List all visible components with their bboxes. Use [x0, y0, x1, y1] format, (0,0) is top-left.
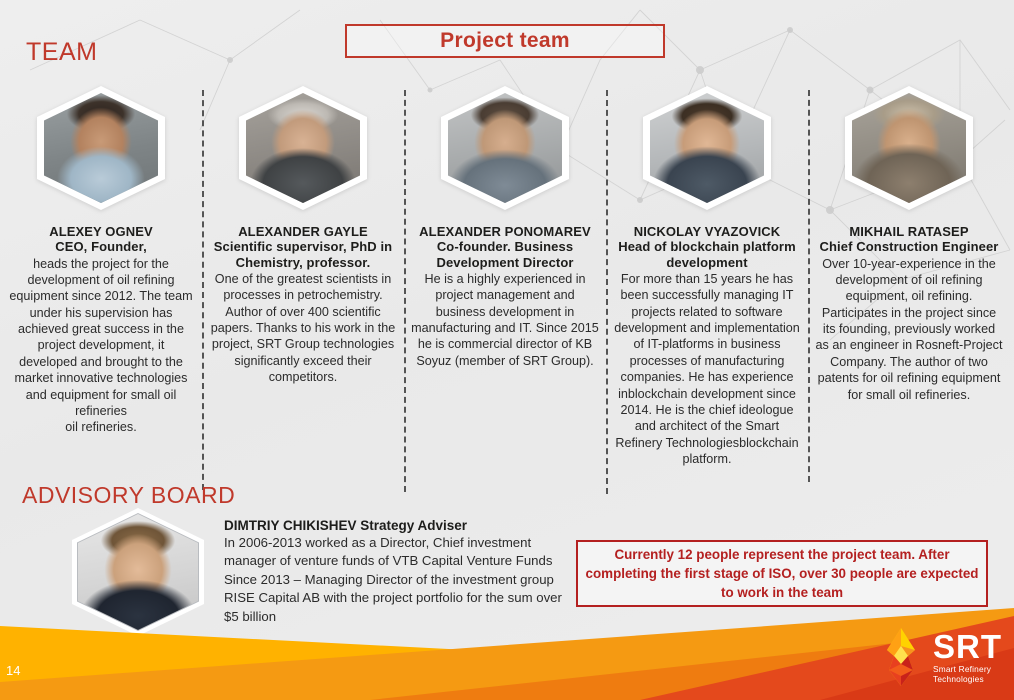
team-member-card: ALEXANDER GAYLE Scientific supervisor, P…	[202, 86, 404, 467]
member-bio: One of the greatest scientists in proces…	[209, 271, 397, 386]
photo-alexey-ognev	[37, 86, 165, 210]
slide-canvas: TEAM Project team ALEXEY OGNEV CEO, Foun…	[0, 0, 1014, 700]
member-bio: He is a highly experienced in project ma…	[411, 271, 599, 369]
advisory-board-label: ADVISORY BOARD	[22, 482, 235, 509]
team-member-card: ALEXANDER PONOMAREV Co-founder. Business…	[404, 86, 606, 467]
page-number: 14	[6, 663, 20, 678]
member-role: Chief Construction Engineer	[820, 239, 999, 254]
photo-mikhail-ratasep	[845, 86, 973, 210]
member-role: Co-founder. Business Development Directo…	[411, 239, 599, 270]
member-name: ALEXANDER GAYLE	[238, 224, 368, 239]
member-bio: heads the project for the development of…	[7, 256, 195, 436]
advisor-name: DIMTRIY CHIKISHEV Strategy Adviser	[224, 518, 572, 533]
photo-alexander-ponomarev	[441, 86, 569, 210]
member-role: Head of blockchain platform development	[613, 239, 801, 270]
member-name: MIKHAIL RATASEP	[849, 224, 968, 239]
team-member-card: ALEXEY OGNEV CEO, Founder, heads the pro…	[0, 86, 202, 467]
member-name: ALEXANDER PONOMAREV	[419, 224, 591, 239]
slide-title-box: Project team	[345, 24, 665, 58]
team-member-card: MIKHAIL RATASEP Chief Construction Engin…	[808, 86, 1010, 467]
member-name: NICKOLAY VYAZOVICK	[634, 224, 781, 239]
srt-logo: SRT Smart Refinery Technologies	[875, 626, 1002, 688]
member-bio: Over 10-year-experience in the developme…	[815, 256, 1003, 403]
logo-tagline: Smart Refinery Technologies	[933, 665, 1002, 685]
team-section-label: TEAM	[26, 38, 97, 67]
member-role: Scientific supervisor, PhD in Chemistry,…	[209, 239, 397, 270]
logo-name: SRT	[933, 630, 1002, 663]
page-title: Project team	[440, 29, 570, 53]
flame-icon	[875, 626, 927, 688]
photo-nickolay-vyazovick	[643, 86, 771, 210]
member-name: ALEXEY OGNEV	[49, 224, 153, 239]
member-bio: For more than 15 years he has been succe…	[613, 271, 801, 467]
team-member-card: NICKOLAY VYAZOVICK Head of blockchain pl…	[606, 86, 808, 467]
team-members-row: ALEXEY OGNEV CEO, Founder, heads the pro…	[0, 86, 1014, 467]
footer-decoration	[0, 590, 1014, 700]
photo-alexander-gayle	[239, 86, 367, 210]
member-role: CEO, Founder,	[55, 239, 147, 254]
